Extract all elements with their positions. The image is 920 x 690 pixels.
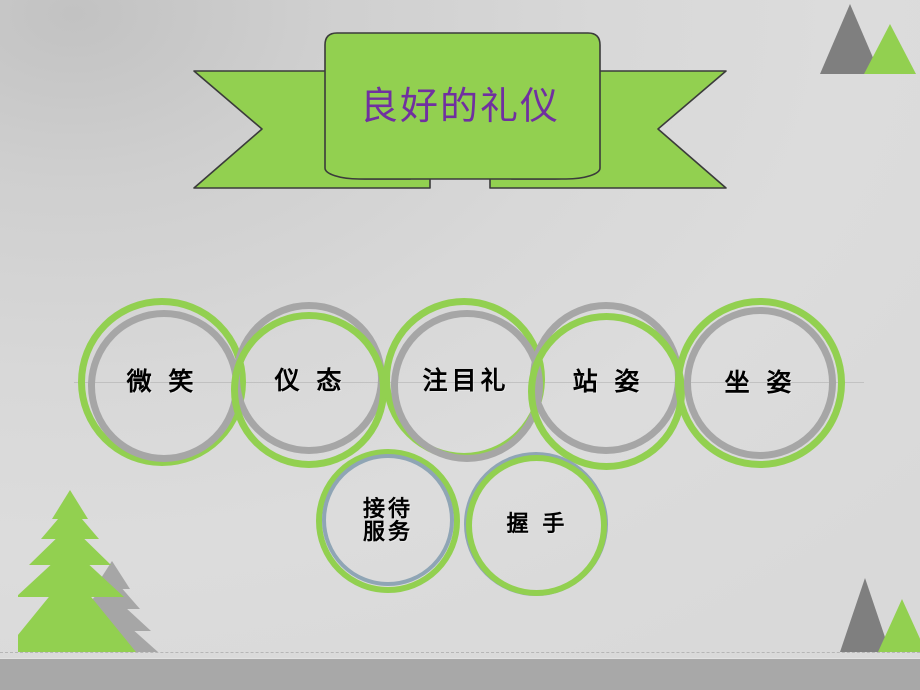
node-demeanor[interactable]: 仪 态 — [231, 302, 389, 460]
ribbon-banner-graphic — [0, 0, 920, 210]
ring-inner-green — [466, 455, 607, 596]
mountain-green-icon — [864, 24, 916, 74]
mountain-green-icon — [878, 599, 920, 652]
ring-inner-green — [231, 312, 387, 468]
ground-band — [0, 659, 920, 690]
node-smile[interactable]: 微 笑 — [78, 298, 246, 466]
ring-inner-gray — [684, 307, 836, 459]
ribbon-banner: 良好的礼仪 — [0, 0, 920, 205]
ring-inner-bluegray — [322, 454, 454, 586]
node-sitting[interactable]: 坐 姿 — [675, 298, 845, 468]
node-eye-salute[interactable]: 注目礼 — [383, 298, 549, 464]
ground-dashed-line — [0, 652, 920, 653]
fir-tree-graphic — [18, 485, 188, 660]
node-standing[interactable]: 站 姿 — [528, 302, 688, 462]
slide-canvas: 良好的礼仪 微 笑 仪 态 注目礼 站 姿 坐 姿 接待 服务 — [0, 0, 920, 690]
mountain-pair-bottom-right — [840, 578, 920, 653]
ribbon-center-panel — [325, 33, 600, 179]
ring-inner-green — [528, 313, 685, 470]
ring-inner-gray — [391, 310, 543, 462]
node-handshake[interactable]: 握 手 — [464, 452, 610, 598]
ring-inner-gray — [88, 310, 240, 462]
fir-tree-pair — [18, 485, 188, 660]
mountain-pair-top-right — [820, 0, 920, 78]
node-reception[interactable]: 接待 服务 — [316, 449, 460, 593]
